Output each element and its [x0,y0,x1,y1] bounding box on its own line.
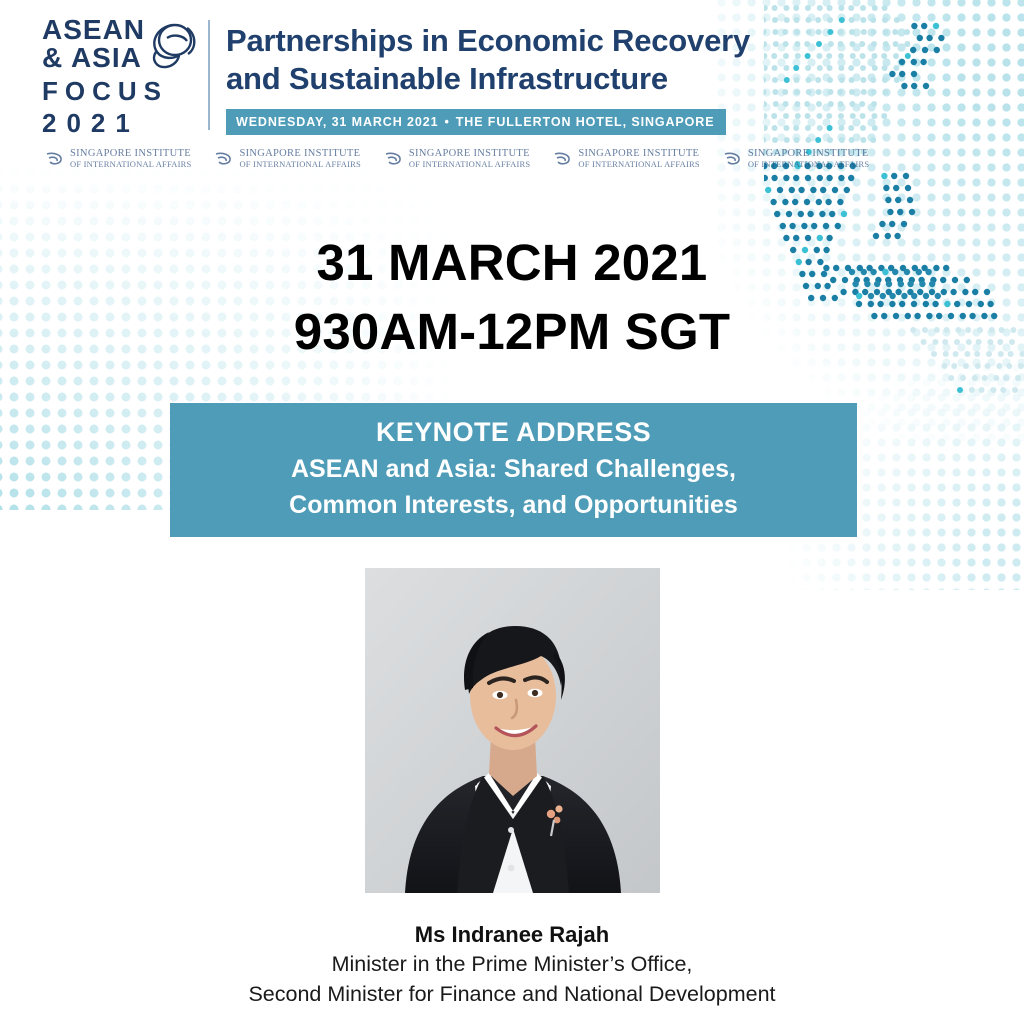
siia-swirl-icon [213,150,235,168]
keynote-title-line-2: Common Interests, and Opportunities [170,489,857,522]
partner-logo-3: Singapore Instituteof International Affa… [552,148,699,169]
partner-logo-line-2: of International Affairs [239,160,360,170]
keynote-label: KEYNOTE ADDRESS [170,415,857,450]
partner-logo-2: Singapore Instituteof International Affa… [383,148,530,169]
partner-logo-4: Singapore Instituteof International Affa… [722,148,869,169]
partner-logo-strip: Singapore Instituteof International Affa… [44,148,869,169]
partner-logo-text: Singapore Instituteof International Affa… [409,148,530,169]
siia-swirl-icon [383,150,405,168]
asean-swirl-icon [143,18,203,76]
siia-swirl-icon [552,150,574,168]
partner-logo-text: Singapore Instituteof International Affa… [578,148,699,169]
subbar-venue: THE FULLERTON HOTEL, SINGAPORE [456,115,715,129]
event-poster: ASEAN & ASIA FOCUS 2021 Partnerships in … [0,0,1024,1024]
keynote-banner: KEYNOTE ADDRESS ASEAN and Asia: Shared C… [170,403,857,537]
partner-logo-line-1: Singapore Institute [748,148,869,160]
partner-logo-line-2: of International Affairs [70,160,191,170]
event-headline: Partnerships in Economic Recovery and Su… [226,22,826,98]
date-venue-bar: WEDNESDAY, 31 MARCH 2021•THE FULLERTON H… [226,109,726,135]
siia-swirl-icon [44,150,66,168]
partner-logo-line-1: Singapore Institute [409,148,530,160]
partner-logo-line-1: Singapore Institute [239,148,360,160]
speaker-name: Ms Indranee Rajah [0,922,1024,948]
event-datetime: 31 MARCH 2021 930AM-12PM SGT [0,228,1024,367]
headline-line-2: and Sustainable Infrastructure [226,60,826,98]
partner-logo-line-1: Singapore Institute [578,148,699,160]
subbar-bullet-icon: • [444,115,449,129]
speaker-portrait [365,568,660,893]
poster-header: ASEAN & ASIA FOCUS 2021 Partnerships in … [0,0,1024,190]
header-divider [208,20,210,130]
partner-logo-line-2: of International Affairs [748,160,869,170]
partner-logo-line-2: of International Affairs [409,160,530,170]
partner-logo-text: Singapore Instituteof International Affa… [239,148,360,169]
brand-line-focus: FOCUS [42,78,202,104]
partner-logo-0: Singapore Instituteof International Affa… [44,148,191,169]
headline-line-1: Partnerships in Economic Recovery [226,22,826,60]
speaker-role-line-1: Minister in the Prime Minister’s Office, [0,950,1024,980]
speaker-role-line-2: Second Minister for Finance and National… [0,980,1024,1010]
keynote-title-line-1: ASEAN and Asia: Shared Challenges, [170,453,857,486]
brand-line-year: 2021 [42,110,202,136]
event-date: 31 MARCH 2021 [0,228,1024,297]
speaker-role: Minister in the Prime Minister’s Office,… [0,950,1024,1009]
partner-logo-1: Singapore Instituteof International Affa… [213,148,360,169]
partner-logo-text: Singapore Instituteof International Affa… [748,148,869,169]
partner-logo-text: Singapore Instituteof International Affa… [70,148,191,169]
siia-swirl-icon [722,150,744,168]
subbar-date: WEDNESDAY, 31 MARCH 2021 [236,115,438,129]
event-time: 930AM-12PM SGT [0,297,1024,366]
partner-logo-line-2: of International Affairs [578,160,699,170]
partner-logo-line-1: Singapore Institute [70,148,191,160]
